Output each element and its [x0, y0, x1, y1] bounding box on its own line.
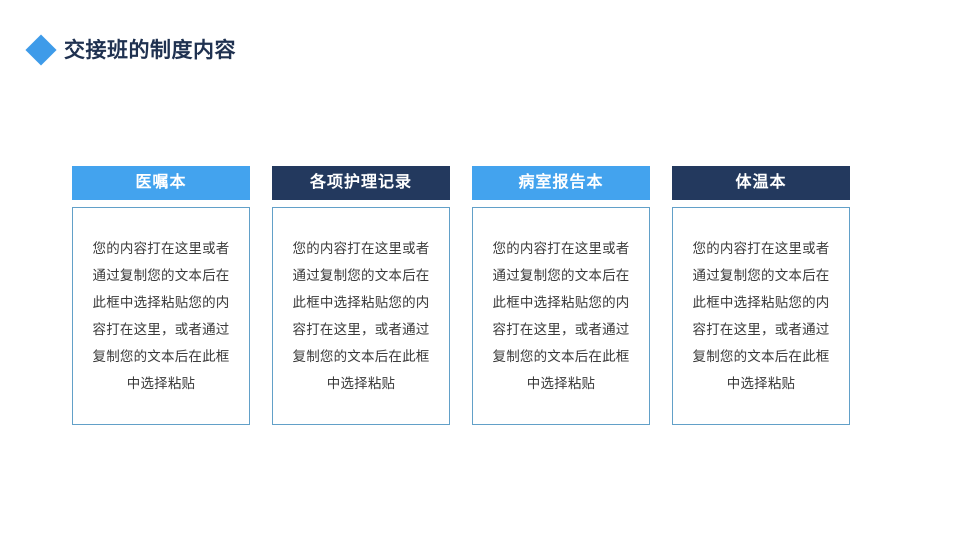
- card-item[interactable]: 病室报告本 您的内容打在这里或者通过复制您的文本后在此框中选择粘贴您的内容打在这…: [472, 166, 650, 425]
- slide-canvas: 交接班的制度内容 医嘱本 您的内容打在这里或者通过复制您的文本后在此框中选择粘贴…: [0, 0, 960, 540]
- page-title: 交接班的制度内容: [64, 40, 236, 61]
- card-body-text: 您的内容打在这里或者通过复制您的文本后在此框中选择粘贴您的内容打在这里，或者通过…: [487, 235, 635, 397]
- card-header-title: 体温本: [672, 166, 850, 200]
- card-body-text: 您的内容打在这里或者通过复制您的文本后在此框中选择粘贴您的内容打在这里，或者通过…: [287, 235, 435, 397]
- card-item[interactable]: 各项护理记录 您的内容打在这里或者通过复制您的文本后在此框中选择粘贴您的内容打在…: [272, 166, 450, 425]
- card-body: 您的内容打在这里或者通过复制您的文本后在此框中选择粘贴您的内容打在这里，或者通过…: [72, 207, 250, 425]
- card-body-text: 您的内容打在这里或者通过复制您的文本后在此框中选择粘贴您的内容打在这里，或者通过…: [87, 235, 235, 397]
- card-header-title: 各项护理记录: [272, 166, 450, 200]
- card-item[interactable]: 医嘱本 您的内容打在这里或者通过复制您的文本后在此框中选择粘贴您的内容打在这里，…: [72, 166, 250, 425]
- card-body: 您的内容打在这里或者通过复制您的文本后在此框中选择粘贴您的内容打在这里，或者通过…: [472, 207, 650, 425]
- card-body: 您的内容打在这里或者通过复制您的文本后在此框中选择粘贴您的内容打在这里，或者通过…: [272, 207, 450, 425]
- diamond-icon: [25, 34, 56, 65]
- card-body: 您的内容打在这里或者通过复制您的文本后在此框中选择粘贴您的内容打在这里，或者通过…: [672, 207, 850, 425]
- card-row: 医嘱本 您的内容打在这里或者通过复制您的文本后在此框中选择粘贴您的内容打在这里，…: [72, 166, 856, 425]
- card-body-text: 您的内容打在这里或者通过复制您的文本后在此框中选择粘贴您的内容打在这里，或者通过…: [687, 235, 835, 397]
- slide-header: 交接班的制度内容: [30, 32, 236, 68]
- card-header-title: 病室报告本: [472, 166, 650, 200]
- card-header-title: 医嘱本: [72, 166, 250, 200]
- card-item[interactable]: 体温本 您的内容打在这里或者通过复制您的文本后在此框中选择粘贴您的内容打在这里，…: [672, 166, 850, 425]
